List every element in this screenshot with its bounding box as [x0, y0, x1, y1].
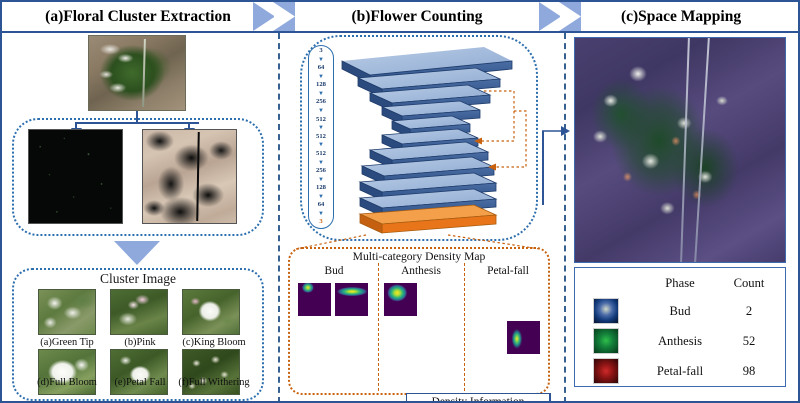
- channel-value-8: 128: [316, 185, 326, 192]
- channel-arrow-icon-5: ▼: [318, 142, 324, 148]
- cluster-caption-full-withering: (f)Full Withering: [154, 377, 274, 388]
- phase-swatch-petal-fall: [593, 358, 619, 384]
- arrow-right-icon-to-map: [542, 125, 570, 137]
- density-category-label-anthesis: Anthesis: [382, 265, 460, 277]
- panel-banner-a: (a)Floral Cluster Extraction: [2, 2, 274, 31]
- table-cell-count-bud: 2: [721, 304, 777, 319]
- space-mapping-texture: [575, 38, 785, 262]
- cluster-caption-king-bloom: (c)King Bloom: [158, 337, 270, 348]
- table-header-phase: Phase: [649, 276, 711, 291]
- space-mapping-image: [574, 37, 786, 263]
- density-category-label-petal-fall: Petal-fall: [468, 265, 548, 277]
- density-tile-petal-fall-1: [470, 283, 503, 316]
- orchard-source-texture: [89, 36, 185, 110]
- channel-value-10: 3: [319, 219, 322, 226]
- cluster-thumb-pink: [110, 289, 168, 335]
- channel-value-1: 64: [318, 65, 325, 72]
- panel-title-b: (b)Flower Counting: [351, 8, 482, 26]
- channel-value-2: 128: [316, 82, 326, 89]
- density-tile-petal-fall-3: [470, 321, 503, 354]
- channel-value-5: 512: [316, 134, 326, 141]
- table-cell-phase-petal-fall: Petal-fall: [631, 364, 729, 379]
- panel-separator-a-b: [278, 33, 280, 403]
- cluster-thumb-green-tip: [38, 289, 96, 335]
- phase-swatch-bud: [593, 298, 619, 324]
- table-cell-count-anthesis: 52: [721, 334, 777, 349]
- panel-floral-cluster-extraction: Cluster Image (a)Green Tip (b)Pink (c)Ki…: [2, 33, 274, 403]
- panel-banner-c: (c)Space Mapping: [560, 2, 800, 31]
- density-tile-bud-1: [298, 283, 331, 316]
- density-info-line-vertical: [550, 393, 551, 403]
- density-information-label: Density Information: [406, 393, 550, 403]
- channel-arrow-icon-9: ▼: [318, 211, 324, 217]
- channel-value-9: 64: [318, 202, 325, 209]
- figure-root: (a)Floral Cluster Extraction (b)Flower C…: [0, 0, 800, 403]
- table-header-count: Count: [721, 276, 777, 291]
- cluster-thumb-full-withering: [182, 349, 240, 395]
- cluster-thumb-full-bloom: [38, 349, 96, 395]
- map-inbound-riser: [542, 131, 544, 205]
- channel-arrow-icon-1: ▼: [318, 74, 324, 80]
- panel-space-mapping: Phase Count Bud 2 Anthesis 52 Petal-fall…: [568, 33, 800, 403]
- network-stack-svg: [334, 41, 520, 237]
- channel-value-3: 256: [316, 99, 326, 106]
- density-tile-bud-4: [335, 321, 368, 354]
- panel-title-a: (a)Floral Cluster Extraction: [45, 8, 231, 26]
- panel-separator-b-c: [564, 33, 566, 403]
- channel-arrow-icon-6: ▼: [318, 160, 324, 166]
- table-cell-count-petal-fall: 98: [721, 364, 777, 379]
- density-tile-anthesis-3: [384, 321, 417, 354]
- chevron-right-icon: [253, 2, 275, 31]
- channel-value-0: 3: [319, 48, 322, 55]
- cluster-thumb-petal-fall: [110, 349, 168, 395]
- density-map-title: Multi-category Density Map: [282, 250, 556, 263]
- channel-arrow-icon-3: ▼: [318, 108, 324, 114]
- segmentation-mask-texture: [29, 130, 122, 223]
- background-removed-image: [142, 129, 237, 224]
- panel-banner-b: (b)Flower Counting: [274, 2, 560, 31]
- network-layer-stack: [334, 41, 520, 231]
- channel-arrow-icon-4: ▼: [318, 125, 324, 131]
- density-tile-bud-2: [335, 283, 368, 316]
- channel-arrow-icon-7: ▼: [318, 177, 324, 183]
- orchard-source-image: [88, 35, 186, 111]
- channel-value-6: 512: [316, 151, 326, 158]
- table-cell-phase-bud: Bud: [635, 304, 725, 319]
- panel-banner-row: (a)Floral Cluster Extraction (b)Flower C…: [2, 2, 800, 31]
- cluster-thumb-king-bloom: [182, 289, 240, 335]
- density-category-divider-2: [464, 263, 465, 391]
- background-removed-texture: [143, 130, 236, 223]
- density-category-label-bud: Bud: [296, 265, 372, 277]
- chevron-left-fill-icon: [273, 2, 295, 31]
- density-tile-anthesis-2: [421, 283, 454, 316]
- segmentation-mask-image: [28, 129, 123, 224]
- chevron-down-large-icon: [114, 241, 160, 265]
- channel-arrow-icon-8: ▼: [318, 194, 324, 200]
- chevron-left-fill-icon: [559, 2, 581, 31]
- density-tile-bud-3: [298, 321, 331, 354]
- density-tile-petal-fall-4: [507, 321, 540, 354]
- panel-title-c: (c)Space Mapping: [621, 8, 741, 26]
- density-tile-anthesis-4: [421, 321, 454, 354]
- channel-value-4: 512: [316, 117, 326, 124]
- density-tile-anthesis-1: [384, 283, 417, 316]
- channel-depth-column: 3 ▼ 64 ▼ 128 ▼ 256 ▼ 512 ▼ 512 ▼ 512 ▼ 2…: [308, 45, 334, 229]
- channel-arrow-icon-2: ▼: [318, 91, 324, 97]
- channel-value-7: 256: [316, 168, 326, 175]
- panel-flower-counting: 3 ▼ 64 ▼ 128 ▼ 256 ▼ 512 ▼ 512 ▼ 512 ▼ 2…: [282, 33, 554, 403]
- density-tile-petal-fall-2: [507, 283, 540, 316]
- channel-arrow-icon-0: ▼: [318, 57, 324, 63]
- phase-swatch-anthesis: [593, 328, 619, 354]
- phase-count-table: Phase Count Bud 2 Anthesis 52 Petal-fall…: [574, 267, 786, 387]
- density-category-divider-1: [378, 263, 379, 391]
- table-cell-phase-anthesis: Anthesis: [635, 334, 725, 349]
- chevron-right-icon: [539, 2, 561, 31]
